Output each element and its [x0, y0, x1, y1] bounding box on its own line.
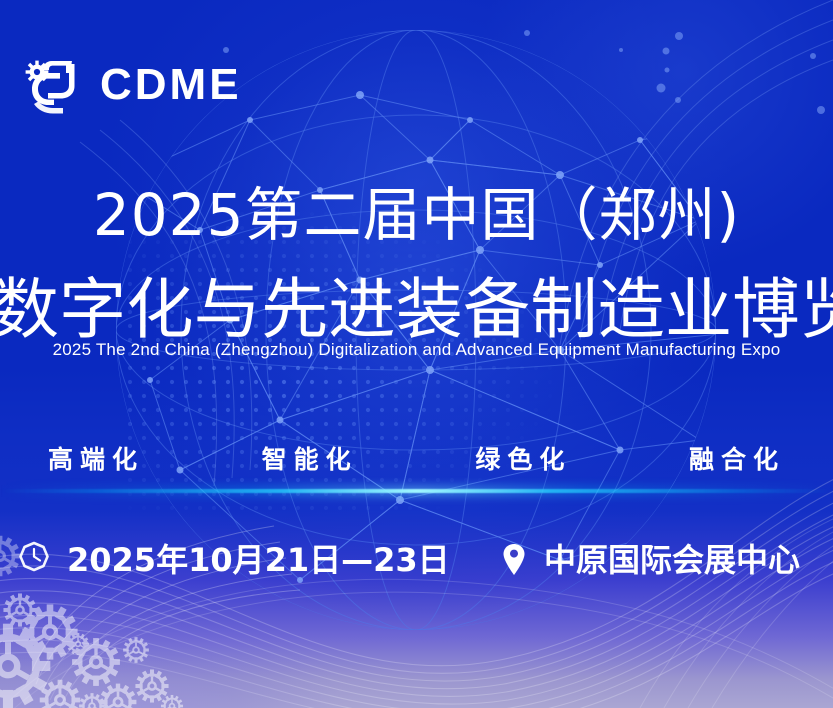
- page-title-line-2: 数字化与先进装备制造业博览会: [0, 256, 833, 352]
- page-title-line-1: 2025第二届中国（郑州): [0, 168, 833, 252]
- event-info-row: 2025年10月21日—23日 中原国际会展中心: [0, 538, 833, 594]
- event-date-block: 2025年10月21日—23日: [14, 538, 450, 582]
- event-date-text: 2025年10月21日—23日: [67, 538, 450, 582]
- brand-logo[interactable]: CDME: [22, 52, 242, 118]
- keyword-item-1: 高端化: [48, 440, 144, 476]
- brand-logo-text: CDME: [100, 63, 242, 107]
- map-pin-icon: [497, 538, 531, 582]
- keyword-item-2: 智能化: [262, 440, 358, 476]
- keyword-list: 高端化 智能化 绿色化 融合化: [48, 440, 785, 476]
- event-poster: CDME 2025第二届中国（郑州) 数字化与先进装备制造业博览会 2025 T…: [0, 0, 833, 708]
- page-subtitle-english: 2025 The 2nd China (Zhengzhou) Digitaliz…: [0, 340, 833, 360]
- clock-icon: [14, 538, 54, 582]
- event-venue-block: 中原国际会展中心: [497, 538, 800, 582]
- event-venue-text: 中原国际会展中心: [544, 538, 800, 582]
- gear-s-monogram-icon: [22, 52, 86, 118]
- keyword-item-3: 绿色化: [475, 440, 571, 476]
- keyword-item-4: 融合化: [689, 440, 785, 476]
